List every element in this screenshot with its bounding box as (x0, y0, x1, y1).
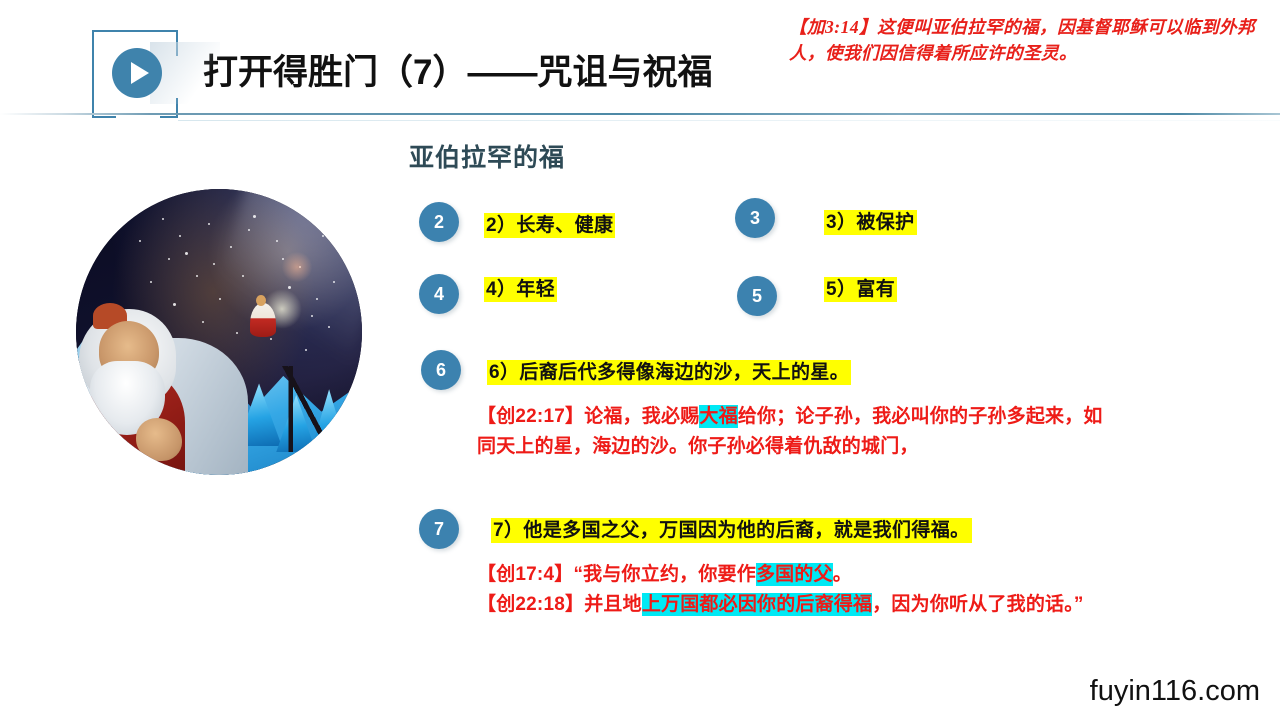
verse-highlight: 多国的父 (756, 563, 833, 586)
point-badge-number: 6 (436, 360, 446, 381)
point-label: 2）长寿、健康 (484, 213, 615, 238)
point-label: 6）后裔后代多得像海边的沙，天上的星。 (487, 360, 851, 385)
header-divider-secondary (178, 120, 1280, 121)
header-verse-text: 【加3:14】这便叫亚伯拉罕的福，因基督耶稣可以临到外邦人，使我们因信得着所应许… (789, 14, 1259, 66)
verse-part-2: 。 (833, 564, 852, 585)
verse-part-2: ，因为你听从了我的话。” (872, 594, 1083, 615)
verse-gen-17-4: 【创17:4】“我与你立约，你要作多国的父。 (477, 560, 1177, 590)
point-badge-number: 2 (434, 212, 444, 233)
play-triangle-icon (131, 62, 149, 84)
header-divider (0, 113, 1280, 115)
bare-branch (253, 366, 350, 452)
verse-gen-22-18: 【创22:18】并且地上万国都必因你的后裔得福，因为你听从了我的话。” (477, 590, 1192, 620)
page-title: 打开得胜门（7）——咒诅与祝福 (203, 44, 712, 95)
point-badge-number: 5 (752, 286, 762, 307)
point-text-7: 7）他是多国之父，万国因为他的后裔，就是我们得福。 (491, 515, 972, 542)
verse-part-1: 论福，我必赐 (584, 406, 699, 427)
play-icon (112, 48, 162, 98)
point-badge-6: 6 (421, 350, 461, 390)
point-badge-number: 7 (434, 519, 444, 540)
point-text-6: 6）后裔后代多得像海边的沙，天上的星。 (487, 357, 851, 384)
moon-glow (282, 252, 312, 282)
point-text-3: 3）被保护 (824, 207, 917, 234)
verse-gen-22-17: 【创22:17】论福，我必赐大福给你；论子孙，我必叫你的子孙多起来，如同天上的星… (477, 402, 1117, 462)
slide-header: 打开得胜门（7）——咒诅与祝福 【加3:14】这便叫亚伯拉罕的福，因基督耶稣可以… (0, 0, 1280, 122)
point-label: 4）年轻 (484, 277, 557, 302)
verse-reference: 【创22:18】 (477, 594, 584, 615)
point-label: 7）他是多国之父，万国因为他的后裔，就是我们得福。 (491, 518, 972, 543)
site-watermark: fuyin116.com (1090, 675, 1260, 708)
verse-highlight: 大福 (699, 405, 737, 428)
abraham-illustration (76, 189, 362, 475)
point-label: 3）被保护 (824, 210, 917, 235)
verse-reference: 【创22:17】 (477, 406, 584, 427)
point-text-2: 2）长寿、健康 (484, 210, 615, 237)
verse-highlight: 上万国都必因你的后裔得福 (642, 593, 872, 616)
point-label: 5）富有 (824, 277, 897, 302)
verse-part-1: 并且地 (584, 594, 642, 615)
point-text-4: 4）年轻 (484, 274, 557, 301)
verse-reference: 【创17:4】 (477, 564, 573, 585)
point-badge-2: 2 (419, 202, 459, 242)
standing-figure-head (256, 295, 266, 306)
section-heading: 亚伯拉罕的福 (409, 138, 565, 174)
point-badge-4: 4 (419, 274, 459, 314)
point-badge-number: 3 (750, 208, 760, 229)
point-badge-number: 4 (434, 284, 444, 305)
point-text-5: 5）富有 (824, 274, 897, 301)
point-badge-7: 7 (419, 509, 459, 549)
point-badge-5: 5 (737, 276, 777, 316)
point-badge-3: 3 (735, 198, 775, 238)
verse-part-1: “我与你立约，你要作 (573, 564, 756, 585)
